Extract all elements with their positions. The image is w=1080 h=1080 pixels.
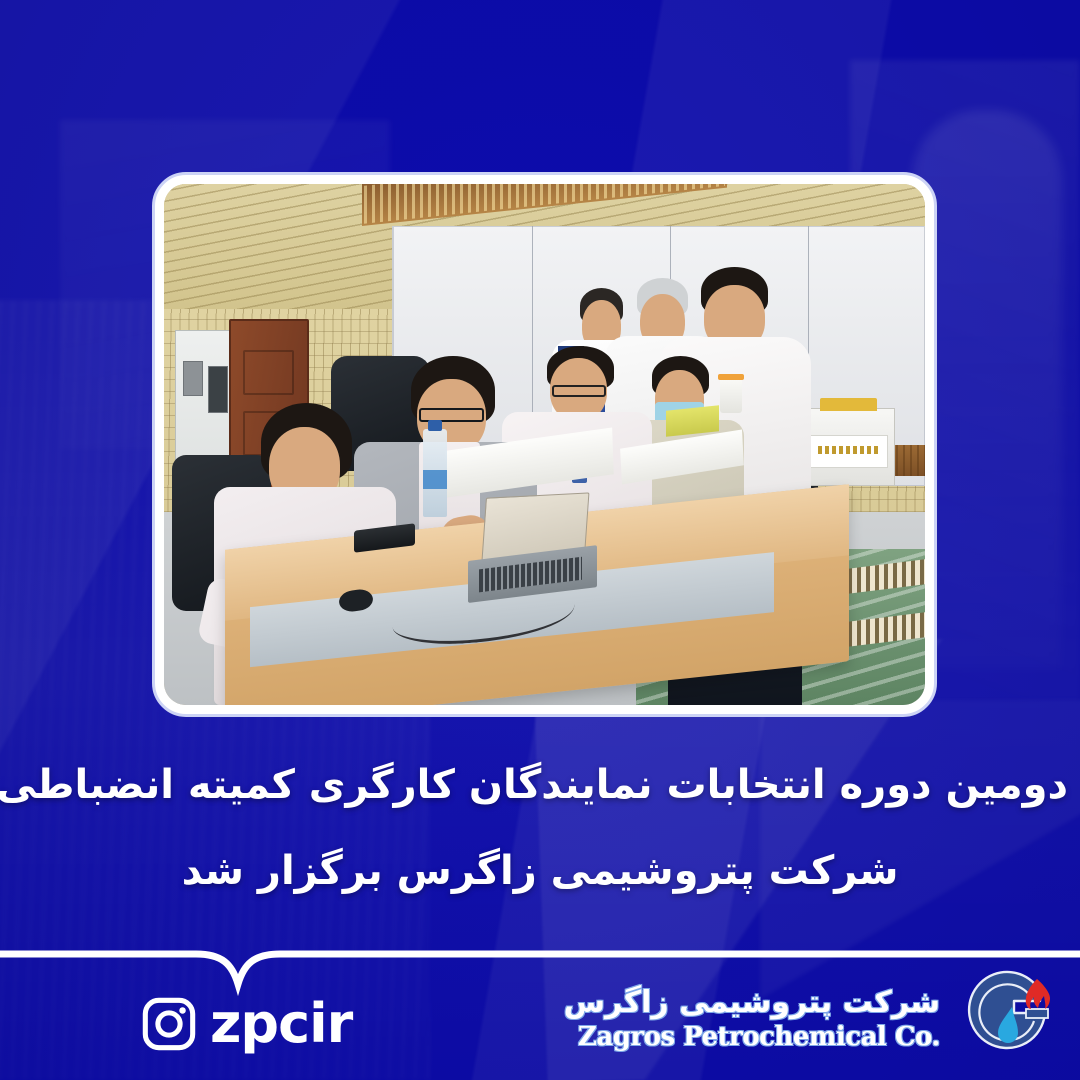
photo-frame [152, 172, 937, 717]
instagram-handle[interactable]: zpcir [210, 997, 352, 1051]
scene-water-bottle [423, 429, 447, 518]
headline: دومین دوره انتخابات نمایندگان کارگری کمی… [0, 742, 1080, 914]
instagram-block[interactable]: zpcir [140, 995, 352, 1053]
brand-block: شرکت پتروشیمی زاگرس Zagros Petrochemical… [564, 967, 1058, 1071]
brand-name-en: Zagros Petrochemical Co. [564, 1021, 940, 1053]
brand-text: شرکت پتروشیمی زاگرس Zagros Petrochemical… [564, 985, 940, 1053]
footer: zpcir شرکت پتروشیمی زاگرس Zagros Petroch… [0, 955, 1080, 1080]
scene-person-glasses [552, 385, 606, 397]
zagros-flame-droplet-logo-icon [954, 967, 1058, 1071]
scene-ballot-sign [810, 435, 889, 469]
photo-scene [164, 184, 925, 705]
scene-cup [720, 377, 743, 413]
headline-line-2: شرکت پتروشیمی زاگرس برگزار شد [12, 828, 1068, 914]
scene-laptop [468, 497, 597, 601]
scene-cup-lid [718, 374, 744, 381]
scene-ballot-slot [820, 398, 877, 410]
headline-line-1: دومین دوره انتخابات نمایندگان کارگری کمی… [12, 742, 1068, 828]
scene-wall-box [183, 361, 203, 396]
brand-name-fa: شرکت پتروشیمی زاگرس [564, 985, 940, 1021]
scene-bottle-label [423, 470, 447, 489]
instagram-icon[interactable] [140, 995, 198, 1053]
scene-bottle-cap [428, 420, 442, 431]
poster-root: دومین دوره انتخابات نمایندگان کارگری کمی… [0, 0, 1080, 1080]
scene-door-panel [243, 350, 295, 395]
scene-ballot-box [803, 408, 894, 486]
photo-image [164, 184, 925, 705]
